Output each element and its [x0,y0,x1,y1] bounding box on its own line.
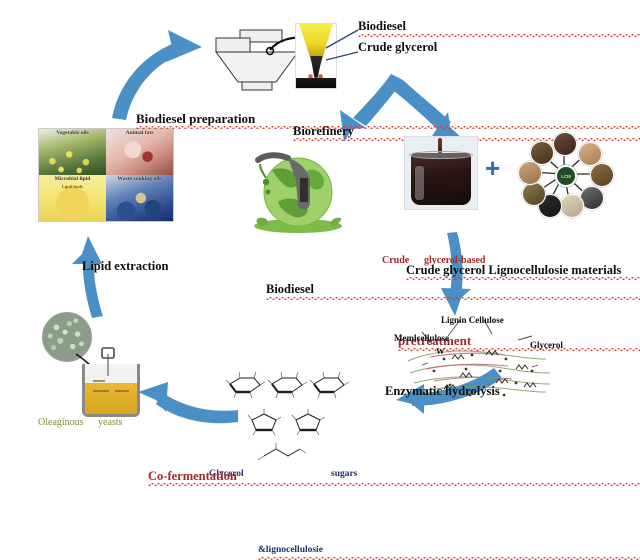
fermenter-mark [93,380,105,382]
plus-sign: + [485,155,500,181]
feedstock-cell-animal-fats: Animal fats [106,129,173,175]
figure-canvas: Vegetable oils Animal fats Microbial lip… [0,0,640,491]
biomass-node [560,194,584,218]
feedstock-caption: Waste cooking oils [106,176,173,182]
feedstock-cell-vegetable-oils: Vegetable oils [39,129,106,175]
feedstock-caption: Microbial lipid [39,176,106,182]
label-co-fermentation: Co-fermentation [148,470,640,483]
lignocellulose-wheel: LCM [508,130,620,218]
biodiesel-globe-icon [248,140,358,240]
callout-biodiesel-label: Biodiesel [358,20,640,33]
label-lignin-cellulose: Lignin Cellulose [441,316,504,325]
label-lipid-extraction: Lipid extraction [82,260,168,273]
feedstock-cell-waste-cooking-oils: Waste cooking oils [106,175,173,221]
feedstock-caption: Animal fats [106,130,173,136]
sugar-structures [222,368,352,468]
fermenter-impeller [82,348,138,378]
label-biodiesel-node: Biodiesel [266,283,640,296]
label-hemicellulose: Memlcellulose [394,334,449,343]
feedstock-photo-grid: Vegetable oils Animal fats Microbial lip… [38,128,174,222]
label-glycerol-biomass: Glycerol [530,341,563,350]
biomass-node [522,182,546,206]
label-w: W [436,347,445,356]
beaker-rim [409,151,472,159]
callout-crude-glycerol-label: Crude glycerol [358,41,437,54]
label-oleaginous: Oleaginous [38,418,84,428]
feedstock-caption: Vegetable oils [39,130,106,136]
biomass-node [530,141,554,165]
feedstock-cell-microbial-lipid: Microbial lipid Lipid body [39,175,106,221]
label-biodiesel-preparation: Biodiesel preparation [136,112,640,125]
biomass-node [590,163,614,187]
wheel-hub: LCM [555,165,577,187]
label-pretreatment-line1a: Crude [382,256,409,266]
label-pretreatment-line1b: glycerol-based [424,256,485,266]
fermenter-mark [115,390,129,392]
arrow-biodiesel-preparation [112,30,202,120]
fermenter-medium [85,383,137,414]
crude-glycerol-beaker-photo [404,136,478,210]
feedstock-subcaption: Lipid body [39,184,106,189]
fermenter-mark [93,390,109,392]
arrow-feedstock-up [84,244,92,256]
label-enzymatic-hydrolysis: Enzymatic hydrolysis [385,385,500,398]
wheel-hub-label: LCM [561,174,571,179]
beaker-glare [415,166,424,201]
label-yeasts: yeasts [98,418,122,428]
biomass-node [553,132,577,156]
label-sugars-lignocellulosic: &lignocellulosie [258,546,640,556]
